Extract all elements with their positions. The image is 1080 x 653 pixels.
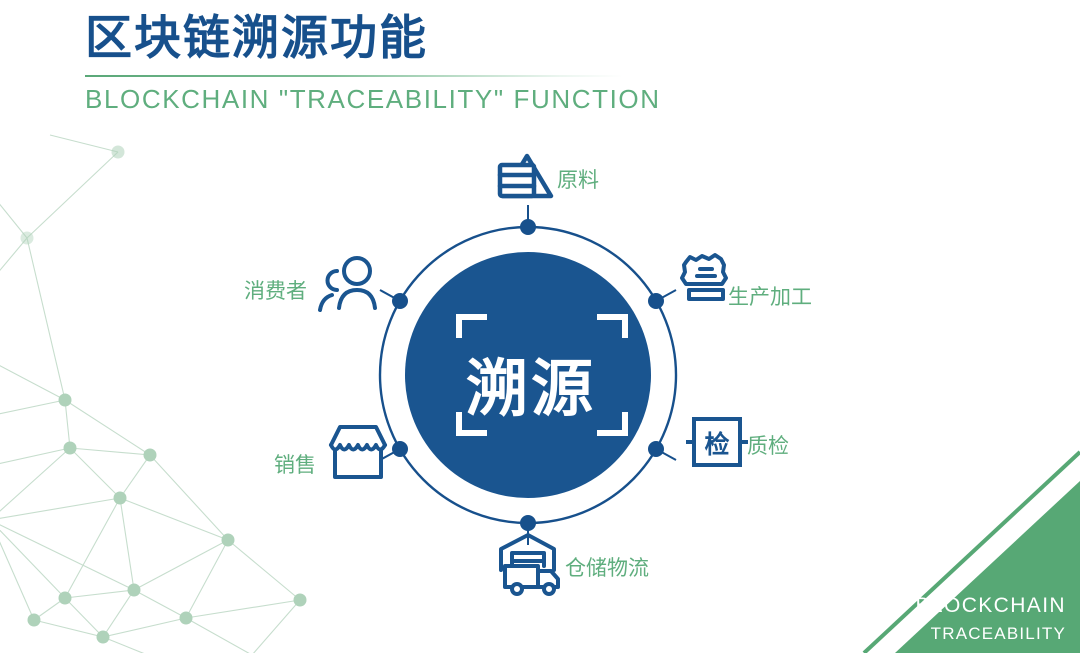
node-dot-consumer xyxy=(392,293,408,309)
traceability-cycle-diagram: 检 xyxy=(0,0,1080,653)
slide-canvas: 区块链溯源功能 BLOCKCHAIN "TRACEABILITY" FUNCTI… xyxy=(0,0,1080,653)
material-pile-icon xyxy=(500,156,551,196)
inspection-glyph: 检 xyxy=(704,430,729,459)
node-dot-production xyxy=(648,293,664,309)
node-label-sales[interactable]: 销售 xyxy=(274,449,316,479)
node-label-raw-material[interactable]: 原料 xyxy=(557,164,599,194)
node-label-warehouse-logistics[interactable]: 仓储物流 xyxy=(565,552,649,582)
warehouse-truck-icon xyxy=(501,535,558,594)
corner-title: BLOCKCHAIN xyxy=(915,594,1066,618)
gear-factory-icon xyxy=(682,255,726,299)
node-dot-sales xyxy=(392,441,408,457)
node-dot-quality-inspection xyxy=(648,441,664,457)
node-label-production[interactable]: 生产加工 xyxy=(728,281,812,311)
storefront-icon xyxy=(331,427,385,477)
people-icon xyxy=(320,258,375,310)
center-label: 溯源 xyxy=(466,338,596,428)
node-dot-warehouse-logistics xyxy=(520,515,536,531)
node-label-consumer[interactable]: 消费者 xyxy=(244,275,307,305)
corner-subtitle: TRACEABILITY xyxy=(931,624,1066,644)
node-label-quality-inspection[interactable]: 质检 xyxy=(747,430,789,460)
node-dot-raw-material xyxy=(520,219,536,235)
